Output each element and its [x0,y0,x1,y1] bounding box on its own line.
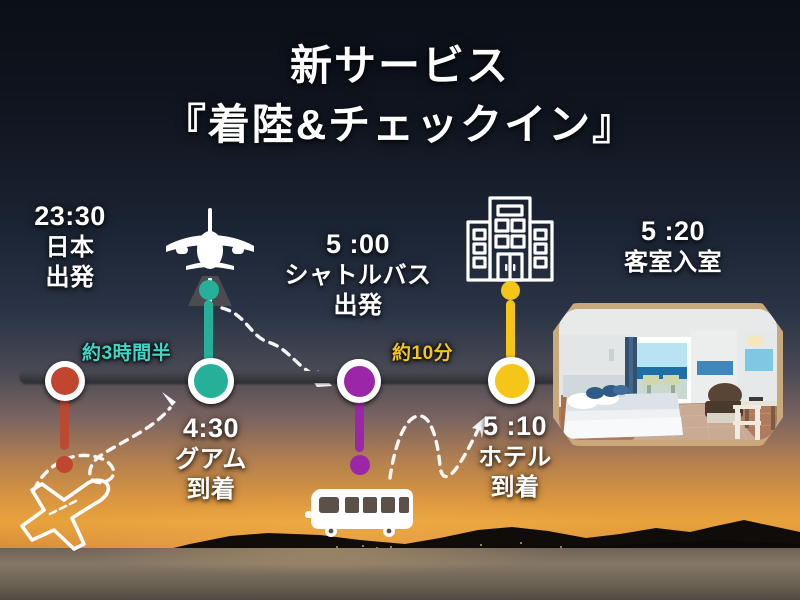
stop-label-arrive-guam: 4:30 グアム 到着 [146,412,276,505]
timeline-node-arrive-hotel-top[interactable] [488,357,535,404]
stem-depart-japan [60,398,69,450]
stop-time-arrive-guam: 4:30 [146,412,276,445]
stop-time-check-in: 5 :20 [588,215,758,248]
stem-arrive-guam [204,300,213,362]
stop-place-check-in: 客室入室 [588,248,758,278]
duration-bus: 約10分 [392,338,453,365]
title-line-1: 新サービス [0,42,800,89]
water-reflection [0,548,800,600]
stem-dot-depart-japan [56,456,73,473]
timeline-node-arrive-guam-top[interactable] [188,358,234,404]
timeline-node-depart-japan-top[interactable] [45,361,85,401]
hotel-room-photo [553,303,783,446]
stop-action-arrive-hotel: 到着 [452,473,578,503]
stop-place-arrive-guam: グアム [146,445,276,475]
stop-action-depart-japan: 出発 [5,263,135,293]
stop-place-shuttle-bus: シャトルバス [258,261,458,291]
title-line-2: 『着陸&チェックイン』 [0,101,800,148]
stop-time-depart-japan: 23:30 [5,200,135,233]
infographic-canvas: 新サービス 『着陸&チェックイン』 23:30 日本 出発 [0,0,800,600]
stop-label-check-in: 5 :20 客室入室 [588,215,758,278]
stop-action-shuttle-bus: 出発 [258,291,458,321]
stop-place-depart-japan: 日本 [5,233,135,263]
stop-time-shuttle-bus: 5 :00 [258,228,458,261]
airplane-takeoff-icon [14,470,126,555]
stem-dot-shuttle-bus [350,455,370,475]
stop-label-depart-japan: 23:30 日本 出発 [5,200,135,293]
hotel-building-icon [462,196,558,282]
timeline-node-shuttle-bus-top[interactable] [337,359,381,403]
stem-dot-arrive-hotel [501,281,520,300]
page-title: 新サービス 『着陸&チェックイン』 [0,42,800,148]
stem-arrive-hotel [506,300,515,360]
bus-icon [305,485,415,537]
stop-action-arrive-guam: 到着 [146,475,276,505]
duration-flight: 約3時間半 [82,338,171,365]
stop-place-arrive-hotel: ホテル [452,443,578,473]
stop-label-shuttle-bus: 5 :00 シャトルバス 出発 [258,228,458,321]
stem-shuttle-bus [355,400,364,452]
stem-dot-arrive-guam [199,280,219,300]
